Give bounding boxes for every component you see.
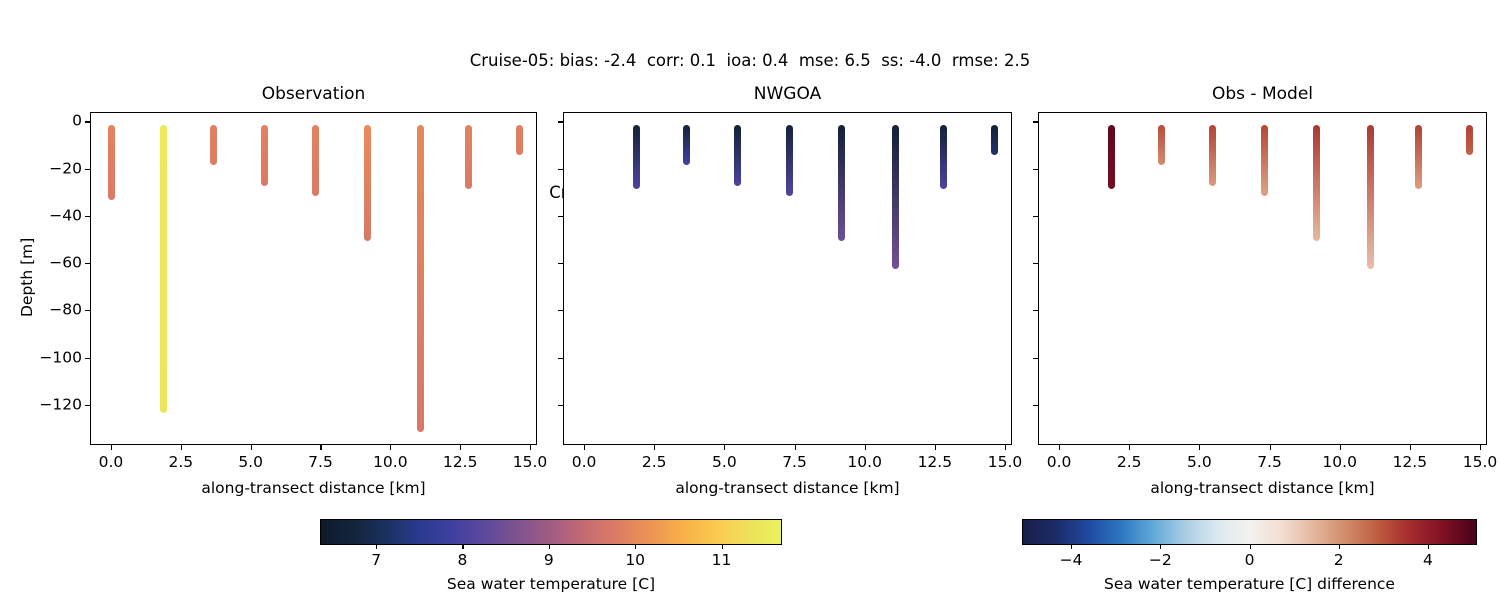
- colorbar-temperature: 7891011Sea water temperature [C]: [320, 519, 782, 545]
- panel-observation: Observation0−20−40−60−80−100−1200.02.55.…: [90, 112, 537, 445]
- cast-profile: [261, 125, 268, 186]
- cast-profile: [1367, 125, 1374, 269]
- x-axis-tick-label: 0.0: [99, 453, 124, 471]
- colorbar-difference: −4−2024Sea water temperature [C] differe…: [1022, 519, 1477, 545]
- y-axis-tick: [1033, 216, 1038, 217]
- colorbar-label-temperature: Sea water temperature [C]: [320, 575, 782, 593]
- y-axis-tick: [1033, 405, 1038, 406]
- y-axis-tick: [558, 121, 563, 122]
- x-axis-tick: [1270, 445, 1271, 450]
- x-axis-tick: [865, 445, 866, 450]
- cast-profile: [312, 125, 319, 196]
- x-axis-tick-label: 5.0: [1187, 453, 1212, 471]
- y-axis-tick: [85, 310, 90, 311]
- x-axis-tick-label: 5.0: [712, 453, 737, 471]
- cast-profile: [940, 125, 947, 189]
- panel-nwgoa: NWGOA0.02.55.07.510.012.515.0along-trans…: [563, 112, 1012, 445]
- cast-profile: [1261, 125, 1268, 196]
- y-axis-tick-label: −120: [39, 395, 82, 413]
- cast-profile: [1158, 125, 1165, 165]
- y-axis-tick: [558, 310, 563, 311]
- cast-profile: [1466, 125, 1473, 156]
- y-axis-tick: [85, 358, 90, 359]
- x-axis-tick: [1410, 445, 1411, 450]
- axes-obs-model: [1038, 112, 1487, 445]
- x-axis-tick: [460, 445, 461, 450]
- x-axis-tick-label: 10.0: [1322, 453, 1357, 471]
- y-axis-tick: [558, 263, 563, 264]
- x-axis-tick: [181, 445, 182, 450]
- y-axis-tick: [85, 169, 90, 170]
- panel-title-observation: Observation: [90, 84, 537, 104]
- figure-canvas: Cruise-05: bias: -2.4 corr: 0.1 ioa: 0.4…: [0, 0, 1500, 600]
- x-axis-tick-label: 0.0: [1047, 453, 1072, 471]
- colorbar-tick: [1071, 545, 1072, 549]
- x-axis-tick: [935, 445, 936, 450]
- x-axis-tick: [584, 445, 585, 450]
- x-axis-tick-label: 2.5: [168, 453, 193, 471]
- x-axis-tick-label: 10.0: [847, 453, 882, 471]
- cast-profile: [1313, 125, 1320, 241]
- colorbar-tick-label: 10: [625, 551, 645, 569]
- suptitle-line-stats: Cruise-05: bias: -2.4 corr: 0.1 ioa: 0.4…: [0, 50, 1500, 72]
- cast-profile: [633, 125, 640, 189]
- cast-profile: [364, 125, 371, 241]
- y-axis-tick: [85, 405, 90, 406]
- colorbar-tick: [376, 545, 377, 549]
- x-axis-tick: [1059, 445, 1060, 450]
- axes-observation: [90, 112, 537, 445]
- y-axis-tick: [85, 121, 90, 122]
- y-axis-tick: [1033, 358, 1038, 359]
- colorbar-tick: [722, 545, 723, 549]
- x-axis-tick-label: 5.0: [238, 453, 263, 471]
- cast-profile: [1209, 125, 1216, 186]
- x-axis-tick-label: 15.0: [513, 453, 548, 471]
- cast-profile: [1108, 125, 1115, 189]
- colorbar-tick-label: 7: [371, 551, 381, 569]
- cast-profile: [734, 125, 741, 186]
- colorbar-tick-label: 11: [712, 551, 732, 569]
- x-axis-tick-label: 7.5: [782, 453, 807, 471]
- y-axis-tick: [85, 216, 90, 217]
- x-axis-tick: [1129, 445, 1130, 450]
- colorbar-tick-label: 4: [1423, 551, 1433, 569]
- y-axis-tick-label: −60: [49, 254, 82, 272]
- cast-profile: [991, 125, 998, 156]
- y-axis-tick-label: 0: [72, 112, 82, 130]
- x-axis-tick-label: 0.0: [572, 453, 597, 471]
- y-axis-tick-label: −20: [49, 159, 82, 177]
- x-axis-tick-label: 7.5: [308, 453, 333, 471]
- colorbar-tick: [462, 545, 463, 549]
- cast-profile: [516, 125, 523, 156]
- x-axis-tick: [1199, 445, 1200, 450]
- y-axis-label: Depth [m]: [18, 237, 36, 316]
- x-axis-tick-label: 2.5: [642, 453, 667, 471]
- axes-nwgoa: [563, 112, 1012, 445]
- colorbar-tick: [1250, 545, 1251, 549]
- x-axis-label: along-transect distance [km]: [563, 479, 1012, 497]
- colorbar-gradient-difference: [1022, 519, 1477, 545]
- x-axis-tick: [795, 445, 796, 450]
- x-axis-tick: [530, 445, 531, 450]
- y-axis-tick: [558, 358, 563, 359]
- x-axis-tick: [1005, 445, 1006, 450]
- x-axis-tick: [724, 445, 725, 450]
- x-axis-tick: [1480, 445, 1481, 450]
- x-axis-label: along-transect distance [km]: [90, 479, 537, 497]
- colorbar-tick-label: 9: [544, 551, 554, 569]
- y-axis-tick-label: −40: [49, 207, 82, 225]
- colorbar-tick: [1428, 545, 1429, 549]
- y-axis-tick: [558, 216, 563, 217]
- cast-profile: [683, 125, 690, 165]
- y-axis-tick: [85, 263, 90, 264]
- y-axis-tick-label: −100: [39, 348, 82, 366]
- colorbar-tick-label: −4: [1060, 551, 1083, 569]
- y-axis-tick: [1033, 310, 1038, 311]
- y-axis-tick: [1033, 169, 1038, 170]
- x-axis-label: along-transect distance [km]: [1038, 479, 1487, 497]
- colorbar-tick: [1160, 545, 1161, 549]
- cast-profile: [108, 125, 115, 201]
- x-axis-tick: [111, 445, 112, 450]
- x-axis-tick: [1340, 445, 1341, 450]
- panel-title-obs-model: Obs - Model: [1038, 84, 1487, 104]
- colorbar-tick: [635, 545, 636, 549]
- cast-profile: [1415, 125, 1422, 189]
- panel-title-nwgoa: NWGOA: [563, 84, 1012, 104]
- colorbar-tick-label: 0: [1245, 551, 1255, 569]
- x-axis-tick-label: 10.0: [373, 453, 408, 471]
- colorbar-gradient-temperature: [320, 519, 782, 545]
- x-axis-tick: [251, 445, 252, 450]
- cast-profile: [160, 125, 167, 413]
- x-axis-tick-label: 7.5: [1257, 453, 1282, 471]
- colorbar-tick-label: 8: [458, 551, 468, 569]
- cast-profile: [786, 125, 793, 196]
- x-axis-tick: [320, 445, 321, 450]
- x-axis-tick-label: 15.0: [988, 453, 1023, 471]
- cast-profile: [465, 125, 472, 189]
- y-axis-tick-label: −80: [49, 301, 82, 319]
- x-axis-tick-label: 2.5: [1117, 453, 1142, 471]
- colorbar-tick-label: −2: [1149, 551, 1172, 569]
- x-axis-tick-label: 12.5: [918, 453, 953, 471]
- cast-profile: [210, 125, 217, 165]
- y-axis-tick: [558, 169, 563, 170]
- y-axis-tick: [1033, 263, 1038, 264]
- colorbar-tick: [549, 545, 550, 549]
- x-axis-tick-label: 12.5: [1393, 453, 1428, 471]
- colorbar-label-difference: Sea water temperature [C] difference: [1022, 575, 1477, 593]
- cast-profile: [838, 125, 845, 241]
- colorbar-tick-label: 2: [1334, 551, 1344, 569]
- y-axis-tick: [558, 405, 563, 406]
- cast-profile: [892, 125, 899, 269]
- x-axis-tick-label: 12.5: [443, 453, 478, 471]
- y-axis-tick: [1033, 121, 1038, 122]
- cast-profile: [417, 125, 424, 432]
- x-axis-tick: [390, 445, 391, 450]
- panel-obs-model: Obs - Model0.02.55.07.510.012.515.0along…: [1038, 112, 1487, 445]
- x-axis-tick-label: 15.0: [1463, 453, 1498, 471]
- x-axis-tick: [654, 445, 655, 450]
- colorbar-tick: [1339, 545, 1340, 549]
